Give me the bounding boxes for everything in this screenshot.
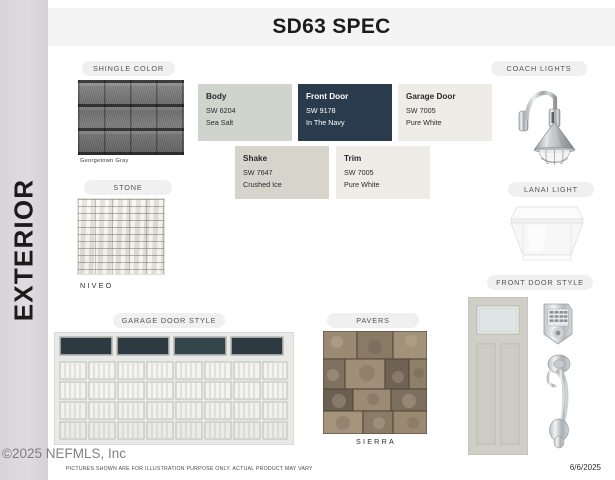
swatch-body-name: Body — [206, 91, 292, 103]
swatch-front-door-color: In The Navy — [306, 117, 392, 129]
shingle-caption: Georgetown Gray — [80, 158, 129, 164]
pavers-caption: SIERRA — [356, 437, 396, 446]
pill-lanai-light: LANAI LIGHT — [508, 182, 594, 197]
swatch-trim-code: SW 7005 — [344, 167, 430, 179]
swatch-front-door-name: Front Door — [306, 91, 392, 103]
pill-pavers: PAVERS — [327, 313, 419, 328]
keypad-deadbolt-icon — [538, 300, 578, 348]
page-title: SD63 SPEC — [48, 8, 615, 46]
swatch-trim-name: Trim — [344, 153, 430, 165]
disclaimer-text: PICTURES SHOWN ARE FOR ILLUSTRATION PURP… — [66, 466, 313, 472]
lanai-light-icon — [503, 203, 591, 267]
front-door-image — [468, 297, 528, 455]
pill-shingle-color: SHINGLE COLOR — [82, 61, 175, 76]
sidebar-label: EXTERIOR — [9, 178, 40, 321]
swatch-shake-name: Shake — [243, 153, 329, 165]
swatch-garage-door-code: SW 7005 — [406, 105, 492, 117]
pill-stone: STONE — [84, 180, 172, 195]
sidebar: EXTERIOR — [0, 0, 48, 480]
swatch-body-code: SW 6204 — [206, 105, 292, 117]
pill-garage-door-style: GARAGE DOOR STYLE — [113, 313, 225, 328]
swatch-shake-color: Crushed Ice — [243, 179, 329, 191]
swatch-shake: Shake SW 7647 Crushed Ice — [235, 146, 329, 199]
swatch-garage-door-name: Garage Door — [406, 91, 492, 103]
door-handleset-icon — [540, 352, 578, 452]
swatch-garage-door-color: Pure White — [406, 117, 492, 129]
swatch-body: Body SW 6204 Sea Salt — [198, 84, 292, 141]
swatch-front-door-code: SW 9178 — [306, 105, 392, 117]
swatch-shake-code: SW 7647 — [243, 167, 329, 179]
garage-door-image — [54, 332, 294, 445]
swatch-garage-door: Garage Door SW 7005 Pure White — [398, 84, 492, 141]
swatch-body-color: Sea Salt — [206, 117, 292, 129]
pavers-image — [323, 331, 427, 434]
swatch-trim: Trim SW 7005 Pure White — [336, 146, 430, 199]
mls-watermark: ©2025 NEFMLS, Inc — [2, 446, 126, 461]
pill-coach-lights: COACH LIGHTS — [491, 61, 587, 76]
pill-front-door-style: FRONT DOOR STYLE — [487, 275, 593, 290]
coach-light-icon — [505, 78, 577, 170]
shingle-swatch-image — [78, 80, 184, 155]
stone-swatch-image — [77, 198, 165, 275]
footer-date: 6/6/2025 — [570, 463, 601, 472]
swatch-front-door: Front Door SW 9178 In The Navy — [298, 84, 392, 141]
stone-caption: NIVEO — [80, 281, 113, 290]
spec-sheet: EXTERIOR SD63 SPEC SHINGLE COLOR Georget… — [0, 0, 615, 480]
swatch-trim-color: Pure White — [344, 179, 430, 191]
